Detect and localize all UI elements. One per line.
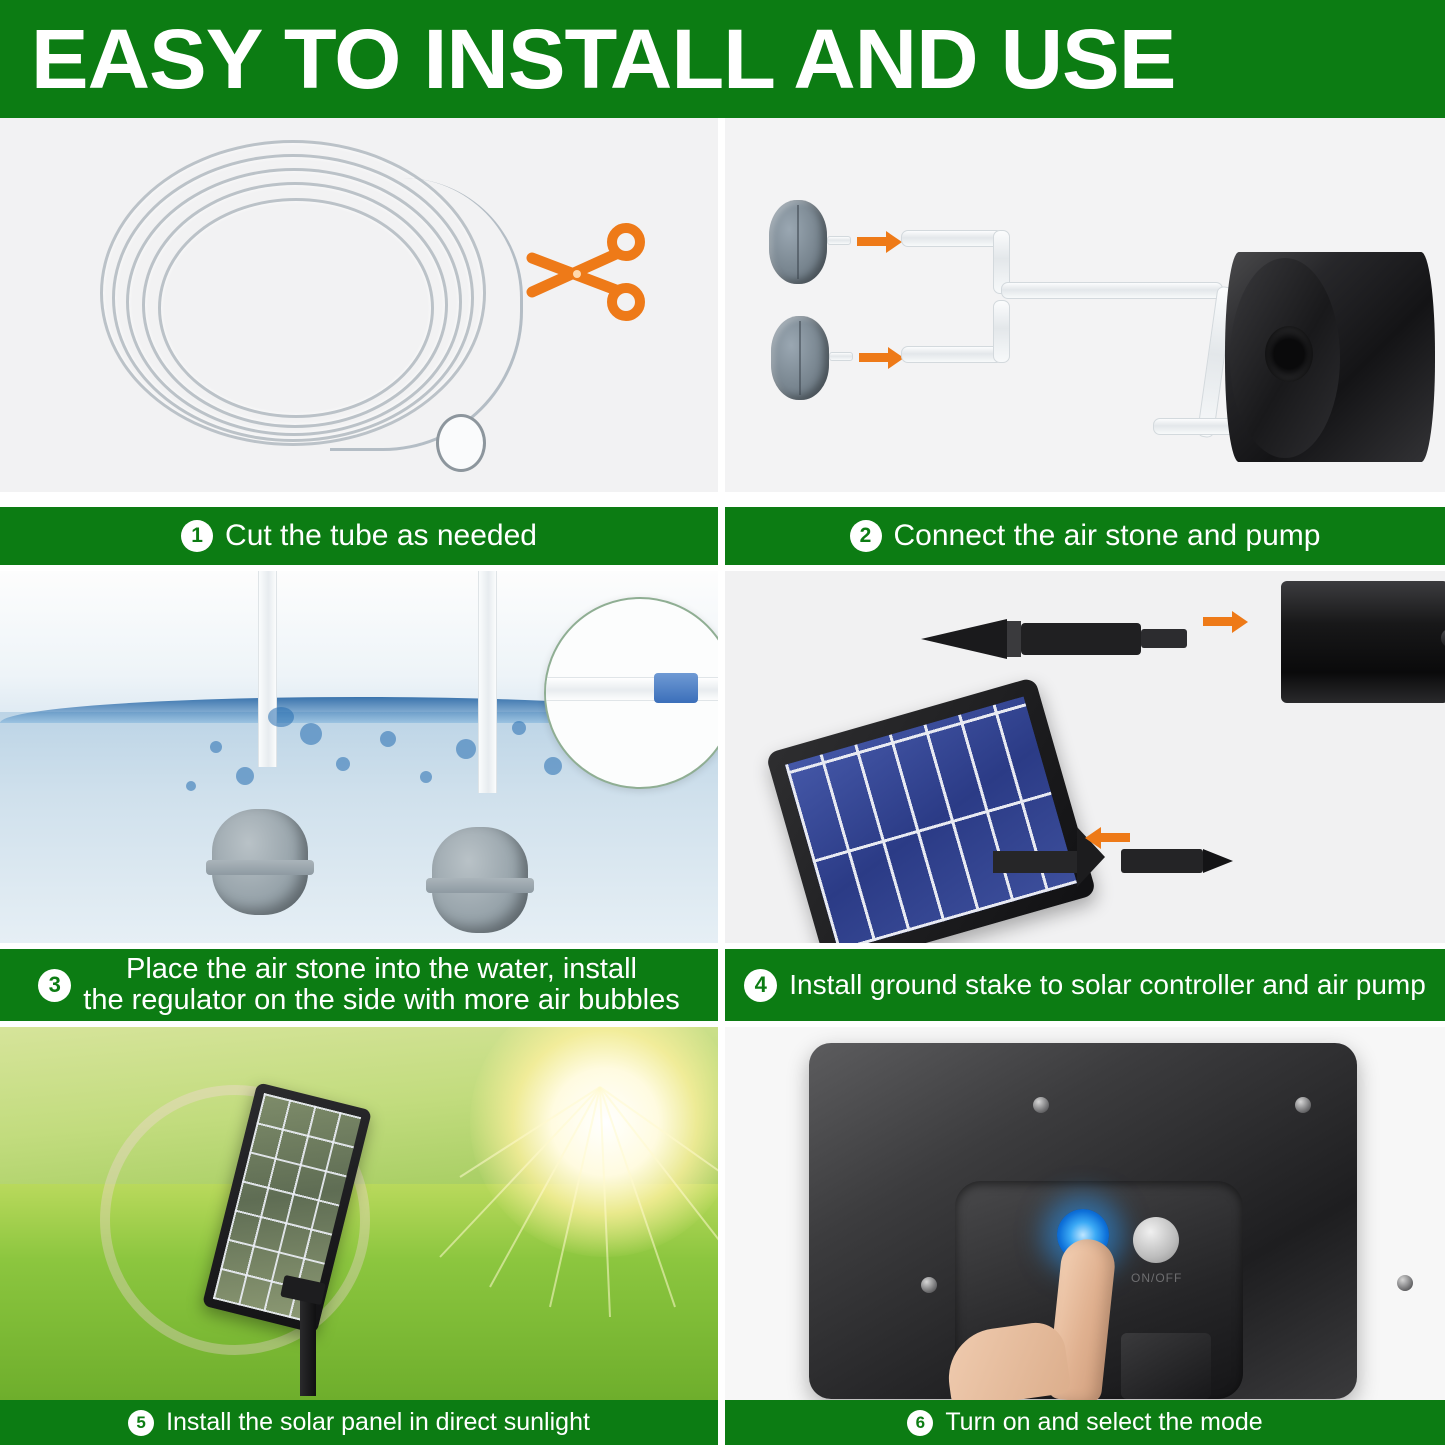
bubble [380, 731, 396, 747]
step-2-caption-bar: 2 Connect the air stone and pump [725, 507, 1445, 565]
ground-stake-top [921, 615, 1191, 661]
step-number-badge: 3 [38, 969, 71, 1002]
stake-pole [300, 1291, 316, 1396]
step-panel-4: 4 Install ground stake to solar controll… [725, 571, 1445, 1021]
air-tube [993, 300, 1010, 363]
bubble [420, 771, 432, 783]
step-3-image [0, 571, 718, 943]
steps-grid: 1 Cut the tube as needed [0, 118, 1445, 1445]
step-2-caption-text: Connect the air stone and pump [894, 520, 1321, 551]
bubble [300, 723, 322, 745]
step-panel-1: 1 Cut the tube as needed [0, 118, 718, 565]
step-5-caption-bar: 5 Install the solar panel in direct sunl… [0, 1400, 718, 1445]
screw [921, 1277, 937, 1293]
step-number-badge: 4 [744, 969, 777, 1002]
step-6-caption-text: Turn on and select the mode [945, 1408, 1262, 1437]
step-4-caption-text: Install ground stake to solar controller… [789, 970, 1426, 999]
air-stone [769, 200, 827, 284]
step-5-image [0, 1027, 718, 1400]
step-panel-5: 5 Install the solar panel in direct sunl… [0, 1027, 718, 1445]
onoff-label: ON/OFF [1131, 1271, 1182, 1285]
bubble [512, 721, 526, 735]
page-title: EASY TO INSTALL AND USE [0, 17, 1175, 101]
screw [1033, 1097, 1049, 1113]
stone-nozzle [827, 236, 851, 245]
step-3-caption-bar: 3 Place the air stone into the water, in… [0, 949, 718, 1021]
air-tube [901, 230, 1003, 247]
step-4-caption-bar: 4 Install ground stake to solar controll… [725, 949, 1445, 1021]
bubble [236, 767, 254, 785]
sun-rays [420, 1027, 718, 1327]
air-hose [478, 571, 497, 793]
step-1-caption-bar: 1 Cut the tube as needed [0, 507, 718, 565]
step-panel-2: 2 Connect the air stone and pump [725, 118, 1445, 565]
step-4-image [725, 571, 1445, 943]
step-3-caption-line1: Place the air stone into the water, inst… [126, 953, 637, 985]
air-tube-main [1153, 418, 1235, 435]
onoff-button[interactable] [1133, 1217, 1179, 1263]
scissors-icon [520, 214, 650, 324]
bubble [210, 741, 222, 753]
air-stone-underwater [432, 827, 528, 933]
air-stone-underwater [212, 809, 308, 915]
step-5-caption-text: Install the solar panel in direct sunlig… [166, 1408, 590, 1437]
screw [1397, 1275, 1413, 1291]
step-1-caption-text: Cut the tube as needed [225, 520, 537, 551]
bubble [456, 739, 476, 759]
air-pump-port [1265, 326, 1313, 382]
header-banner: EASY TO INSTALL AND USE [0, 0, 1445, 118]
bubble [544, 757, 562, 775]
stone-nozzle [829, 352, 853, 361]
step-6-image: ON/OFF [725, 1027, 1445, 1400]
step-panel-6: ON/OFF 6 Turn on and select the mode [725, 1027, 1445, 1445]
step-3-caption-line2: the regulator on the side with more air … [83, 984, 679, 1016]
infographic-page: EASY TO INSTALL AND USE [0, 0, 1445, 1445]
step-6-caption-bar: 6 Turn on and select the mode [725, 1400, 1445, 1445]
step-number-badge: 1 [181, 520, 213, 552]
device-slot [1121, 1333, 1211, 1399]
step-number-badge: 5 [128, 1410, 154, 1436]
step-number-badge: 6 [907, 1410, 933, 1436]
bubble [336, 757, 350, 771]
bubble [186, 781, 196, 791]
air-pump-cylinder [1281, 581, 1445, 703]
bubble [268, 707, 294, 727]
screw [1295, 1097, 1311, 1113]
air-tube [901, 346, 1003, 363]
regulator [654, 673, 698, 703]
step-number-badge: 2 [850, 520, 882, 552]
step-3-caption-text: Place the air stone into the water, inst… [83, 954, 679, 1017]
air-stone [771, 316, 829, 400]
tube-open-end [436, 414, 486, 472]
step-1-image [0, 118, 718, 492]
step-2-image [725, 118, 1445, 492]
air-hose [258, 571, 277, 767]
step-panel-3: 3 Place the air stone into the water, in… [0, 571, 718, 1021]
air-tube-main [1001, 282, 1223, 299]
